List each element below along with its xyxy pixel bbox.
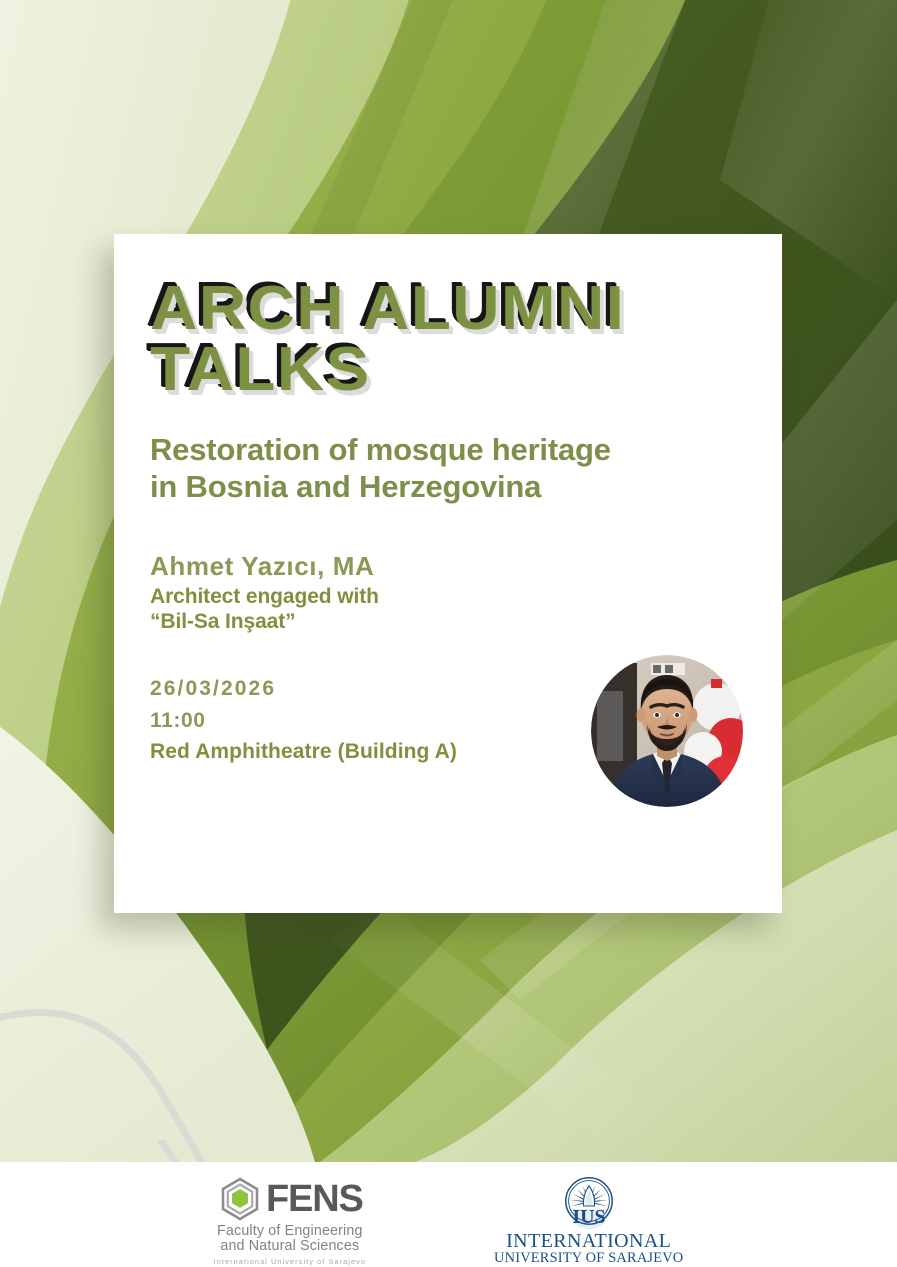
fens-logo: FENS Faculty of Engineering and Natural …	[214, 1176, 366, 1266]
ius-monogram: IUS	[572, 1206, 605, 1228]
fens-wordmark-row: FENS	[217, 1176, 363, 1222]
speaker-name: Ahmet Yazıcı, MA	[150, 551, 570, 582]
page-title: ARCH ALUMNI TALKS	[150, 278, 744, 401]
ius-line1: INTERNATIONAL	[506, 1231, 671, 1251]
content-card: ARCH ALUMNI TALKS Restoration of mosque …	[114, 234, 782, 913]
speaker-portrait-image	[591, 655, 743, 807]
avatar	[591, 655, 743, 807]
speaker-role: Architect engaged with	[150, 584, 570, 610]
ius-line2: UNIVERSITY OF SARAJEVO	[494, 1251, 683, 1266]
hexagon-logo-icon	[217, 1176, 263, 1222]
fens-subtitle-line1: Faculty of Engineering	[217, 1224, 363, 1239]
fens-university-line: International University of Sarajevo	[214, 1257, 366, 1266]
speaker-organization: “Bil-Sa Inşaat”	[150, 609, 570, 635]
poster-canvas: ARCH ALUMNI TALKS Restoration of mosque …	[0, 0, 897, 1267]
university-seal-icon: IUS	[558, 1176, 620, 1230]
footer-logos: FENS Faculty of Engineering and Natural …	[0, 1162, 897, 1267]
ius-logo: IUS INTERNATIONAL UNIVERSITY OF SARAJEVO	[494, 1176, 683, 1267]
speaker-block: Ahmet Yazıcı, MA Architect engaged with …	[150, 551, 570, 635]
talk-subtitle: Restoration of mosque heritage in Bosnia…	[150, 431, 630, 505]
fens-wordmark: FENS	[266, 1182, 363, 1217]
fens-subtitle-line2: and Natural Sciences	[220, 1239, 359, 1254]
